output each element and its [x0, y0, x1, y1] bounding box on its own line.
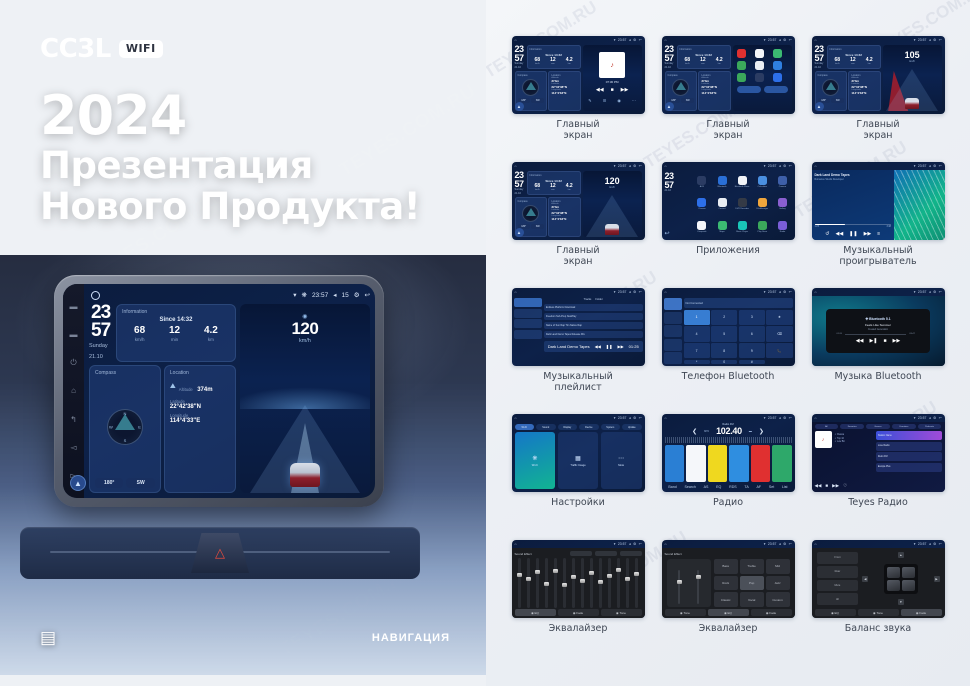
equalizer-footer-button[interactable]: ◉ Tone — [601, 609, 642, 616]
equalizer-footer[interactable]: ◉ Tone◉ EQ◉ Fade — [665, 609, 792, 616]
back-icon[interactable]: ↰ — [69, 415, 78, 424]
power-icon[interactable]: ⏻ — [69, 358, 78, 367]
progress-bar[interactable] — [845, 334, 906, 335]
equalizer-preset-button[interactable] — [595, 551, 617, 556]
settings-tab[interactable]: System — [601, 424, 621, 430]
back-icon[interactable]: ↩ — [639, 542, 642, 546]
dialer-sidebar-item[interactable] — [664, 352, 682, 364]
next-icon[interactable]: ▶▶ — [864, 231, 872, 237]
balance-arrow-up[interactable]: ▲ — [898, 552, 904, 558]
information-widget[interactable]: InformationSince 14:3268km/h12min4.2km — [527, 171, 581, 195]
clock-widget[interactable]: 2357Sunday21.10 — [815, 45, 824, 69]
balance-list-item[interactable]: Rear — [817, 566, 859, 578]
quick-action-icon[interactable]: ◉ — [617, 98, 621, 103]
location-widget[interactable]: LocationAltitude374mLatitude22°42'38"NLo… — [548, 197, 580, 237]
teyes-radio-tab[interactable]: Favorites — [840, 424, 864, 429]
back-icon[interactable]: ↩ — [639, 38, 642, 42]
progress-bar[interactable] — [815, 224, 891, 225]
prev-icon[interactable]: ◀◀ — [595, 344, 601, 349]
dialer-sidebar-item[interactable] — [664, 339, 682, 351]
back-icon[interactable]: ↩ — [639, 290, 642, 294]
app-icon[interactable] — [737, 73, 746, 82]
information-widget[interactable]: Information Since 14:32 68 km/h — [116, 304, 236, 362]
app-icon[interactable] — [755, 61, 764, 70]
app-icon[interactable] — [778, 198, 787, 207]
app-icon[interactable] — [755, 49, 764, 58]
gear-icon[interactable]: ⚙ — [783, 290, 786, 294]
station-list-item[interactable]: Station Name — [876, 431, 942, 440]
radio-toolbar-item[interactable]: Band — [668, 485, 676, 489]
prev-icon[interactable]: ◀◀ — [856, 338, 864, 344]
playback-controls[interactable]: ◀◀▶❚■▶▶ — [856, 338, 900, 344]
radio-preset[interactable] — [708, 445, 728, 482]
equalizer-preset[interactable]: Pop — [740, 576, 764, 591]
app-item[interactable]: DVR Recorder — [735, 198, 749, 210]
equalizer-bands[interactable] — [515, 558, 642, 608]
screenshot-thumbnail[interactable]: ⌂▾23:57◂⚙↩Sound Effect◉ EQ◉ Fade◉ Tone — [512, 540, 645, 618]
settings-tab[interactable]: Wi-Fi — [515, 424, 535, 430]
clock-widget[interactable]: 2357Sunday21.10 — [515, 45, 524, 69]
pause-icon[interactable]: ❚❚ — [606, 344, 613, 349]
equalizer-preset-button[interactable] — [570, 551, 592, 556]
equalizer-band[interactable] — [590, 558, 593, 608]
dial-key[interactable]: 2 — [711, 310, 737, 325]
app-icon[interactable] — [738, 198, 747, 207]
stop-icon[interactable]: ■ — [611, 87, 614, 93]
back-icon[interactable]: ↩ — [939, 416, 942, 420]
balance-arrow-lf[interactable]: ◀ — [862, 576, 868, 582]
gear-icon[interactable]: ⚙ — [354, 291, 360, 299]
app-icon[interactable] — [758, 198, 767, 207]
balance-list-item[interactable]: Mute — [817, 580, 859, 592]
assistant-button[interactable]: ▲ — [815, 102, 824, 111]
radio-preset[interactable] — [772, 445, 792, 482]
screenshot-thumbnail[interactable]: ⌂▾23:57◂⚙↩2357Sunday21.10InformationSinc… — [512, 36, 645, 114]
dial-pad[interactable]: 123★456⌫789📞*0# — [684, 310, 793, 365]
dial-key[interactable]: 9 — [739, 343, 765, 358]
dock-button[interactable] — [764, 86, 788, 93]
equalizer-knob[interactable] — [544, 582, 549, 586]
app-item[interactable]: Radio — [778, 221, 787, 233]
radio-toolbar-item[interactable]: TA — [744, 485, 748, 489]
settings-card[interactable]: ▦Traffic Usage — [558, 432, 599, 489]
assistant-button[interactable]: ▲ — [70, 475, 86, 491]
app-item[interactable]: Music Player — [736, 221, 748, 233]
equalizer-knob[interactable] — [598, 580, 603, 584]
settings-tabs[interactable]: Wi-FiSoundDisplayDeviceSystemUpdate — [515, 424, 642, 430]
radio-toolbar-item[interactable]: AS — [704, 485, 709, 489]
gear-icon[interactable]: ⚙ — [783, 38, 786, 42]
teyes-radio-tab[interactable]: Podcasts — [918, 424, 942, 429]
screenshot-thumbnail[interactable]: ⌂▾23:57◂⚙↩235721.10↩AUXBluetoothBluetoot… — [662, 162, 795, 240]
back-icon[interactable]: ↩ — [639, 164, 642, 168]
equalizer-knob[interactable] — [535, 570, 540, 574]
app-shortcuts-grid[interactable] — [733, 45, 792, 86]
radio-toolbar-item[interactable]: EQ — [716, 485, 721, 489]
equalizer-knob[interactable] — [526, 577, 531, 581]
equalizer-knob[interactable] — [562, 583, 567, 587]
dial-key[interactable]: 7 — [684, 343, 710, 358]
balance-footer-button[interactable]: ◉ Fade — [901, 609, 942, 616]
equalizer-band[interactable] — [626, 558, 629, 608]
back-icon[interactable]: ↩ — [939, 164, 942, 168]
home-icon[interactable]: ⌂ — [815, 416, 817, 420]
dialer-sidebar-item[interactable] — [664, 298, 682, 310]
media-controls[interactable]: ◀◀■▶▶ — [583, 87, 642, 93]
equalizer-footer-button[interactable]: ◉ Tone — [665, 609, 706, 616]
equalizer-presets[interactable]: BassTrebleMidRockPopJazzClassicVocalCust… — [714, 559, 790, 607]
gear-icon[interactable]: ⚙ — [633, 38, 636, 42]
equalizer-band[interactable] — [536, 558, 539, 608]
equalizer-preset[interactable]: Mid — [766, 559, 790, 574]
app-icon[interactable] — [718, 221, 727, 230]
screenshot-thumbnail[interactable]: ⌂▾23:57◂⚙↩TracksFolderEndless Platform D… — [512, 288, 645, 366]
app-icon[interactable] — [778, 176, 787, 185]
app-icon[interactable] — [738, 221, 747, 230]
equalizer-band[interactable] — [518, 558, 521, 608]
radio-preset[interactable] — [686, 445, 706, 482]
app-icon[interactable] — [697, 198, 706, 207]
screenshot-thumbnail[interactable]: ⌂▾23:57◂⚙↩2357Sunday21.10InformationSinc… — [662, 36, 795, 114]
screenshot-thumbnail[interactable]: ⌂▾23:57◂⚙↩Not Connected123★456⌫789📞*0# — [662, 288, 795, 366]
dial-key[interactable]: 0 — [711, 360, 737, 364]
settings-tab[interactable]: Sound — [536, 424, 556, 430]
playlist-row[interactable]: Dark Land Demo Tapes Release Mix — [544, 331, 643, 339]
head-unit-screen[interactable]: ▬ ▬ ⏻ ⌂ ↰ ◅ ▻ ▾ ❋ — [63, 284, 375, 498]
balance-pad[interactable]: ▲▼◀▶ — [862, 552, 939, 605]
back-icon[interactable]: ↩ — [789, 38, 792, 42]
app-icon[interactable] — [738, 176, 747, 185]
prev-icon[interactable]: ◀◀ — [815, 483, 822, 489]
teyes-radio-tab[interactable]: Countries — [892, 424, 916, 429]
screenshot-thumbnail[interactable]: ⌂▾23:57◂⚙↩Radio FM❮MHz102.40▬❯BandSearch… — [662, 414, 795, 492]
clock-widget[interactable]: 2357Sunday21.10 — [665, 45, 674, 69]
settings-card[interactable]: ⋯More — [601, 432, 642, 489]
teyes-radio-tabs[interactable]: AllFavoritesGenresCountriesPodcasts — [815, 424, 942, 429]
radio-toolbar-item[interactable]: List — [782, 485, 788, 489]
home-right-panel[interactable]: ♪07:30 PM◀◀■▶▶✎☰◉⋯ — [583, 45, 642, 111]
home-icon[interactable]: ⌂ — [665, 164, 667, 168]
back-icon[interactable]: ↩ — [365, 291, 370, 299]
station-list-item[interactable]: Retro FM — [876, 452, 942, 461]
back-icon[interactable]: ↩ — [939, 290, 942, 294]
compass-widget[interactable]: Compass N E S W — [89, 365, 161, 493]
dial-key[interactable]: ★ — [766, 310, 792, 325]
home-icon[interactable]: ⌂ — [515, 416, 517, 420]
app-icon[interactable] — [773, 61, 782, 70]
playlist-tab[interactable]: Tracks — [584, 298, 592, 301]
information-widget[interactable]: InformationSince 14:3268km/h12min4.2km — [527, 45, 581, 69]
home-icon[interactable]: ⌂ — [815, 38, 817, 42]
next-icon[interactable]: ▶▶ — [621, 87, 629, 93]
volume-icon[interactable]: ▬ — [69, 302, 78, 311]
information-widget[interactable]: InformationSince 14:3268km/h12min4.2km — [677, 45, 731, 69]
app-item[interactable]: AUX — [697, 176, 706, 188]
equalizer-preset[interactable]: Custom — [766, 592, 790, 607]
quick-actions[interactable]: ✎☰◉⋯ — [583, 98, 642, 103]
app-item[interactable]: Chrome — [697, 198, 706, 210]
equalizer-band[interactable] — [545, 558, 548, 608]
equalizer-preset[interactable]: Jazz — [766, 576, 790, 591]
gear-icon[interactable]: ⚙ — [933, 290, 936, 294]
next-icon[interactable]: ▶▶ — [618, 344, 624, 349]
clock-widget[interactable]: 2357Sunday21.10 — [515, 171, 524, 195]
app-item[interactable]: Camera — [778, 176, 787, 188]
app-icon[interactable] — [758, 221, 767, 230]
balance-list[interactable]: FrontRearMuteAll — [817, 552, 859, 605]
app-item[interactable]: Maps — [718, 221, 727, 233]
back-icon[interactable]: ↩ — [939, 38, 942, 42]
dial-key[interactable]: # — [739, 360, 765, 364]
screenshot-thumbnail[interactable]: ⌂▾23:57◂⚙↩2357Sunday21.10InformationSinc… — [812, 36, 945, 114]
clock-widget[interactable]: 23 57 Sunday 21.10 — [89, 304, 110, 362]
app-icon[interactable] — [718, 176, 727, 185]
app-icon[interactable] — [737, 49, 746, 58]
home-right-panel[interactable] — [733, 45, 792, 111]
balance-arrow-rt[interactable]: ▶ — [934, 576, 940, 582]
equalizer-footer[interactable]: ◉ EQ◉ Fade◉ Tone — [515, 609, 642, 616]
equalizer-knob[interactable] — [696, 575, 701, 579]
radio-toolbar-item[interactable]: RDS — [729, 485, 737, 489]
playlist-tabs[interactable]: TracksFolder — [544, 298, 643, 301]
playback-controls[interactable]: ◀◀■▶▶♡ — [815, 483, 873, 489]
dial-key[interactable]: 8 — [711, 343, 737, 358]
app-icon[interactable] — [737, 61, 746, 70]
home-icon[interactable] — [91, 291, 100, 300]
equalizer-knob[interactable] — [589, 571, 594, 575]
pause-icon[interactable]: ❚❚ — [849, 231, 857, 237]
settings-tab[interactable]: Display — [558, 424, 578, 430]
settings-tab[interactable]: Update — [622, 424, 642, 430]
gear-icon[interactable]: ⚙ — [933, 416, 936, 420]
gear-icon[interactable]: ⚙ — [783, 542, 786, 546]
balance-arrow-dn[interactable]: ▼ — [898, 599, 904, 605]
app-item[interactable]: Play Store — [758, 221, 768, 233]
equalizer-band[interactable] — [608, 558, 611, 608]
back-icon[interactable]: ↩ — [789, 290, 792, 294]
playback-controls[interactable]: ↺◀◀❚❚▶▶≡ — [815, 231, 891, 237]
driving-view-widget[interactable]: ◉ 120 km/h — [240, 304, 370, 493]
equalizer-footer-button[interactable]: ◉ Fade — [751, 609, 792, 616]
list-icon[interactable]: ≡ — [877, 231, 880, 237]
menu-icon[interactable]: ▬ — [69, 330, 78, 339]
equalizer-knob[interactable] — [571, 575, 576, 579]
gear-icon[interactable]: ⚙ — [633, 164, 636, 168]
playlist-sidebar[interactable] — [514, 298, 542, 364]
location-widget[interactable]: LocationAltitude374mLatitude22°42'38"NLo… — [848, 71, 880, 111]
playlist-sidebar-item[interactable] — [514, 319, 542, 328]
gear-icon[interactable]: ⚙ — [633, 290, 636, 294]
home-icon[interactable]: ⌂ — [515, 164, 517, 168]
balance-list-item[interactable]: All — [817, 593, 859, 605]
home-right-panel[interactable]: 120km/h — [583, 171, 642, 237]
back-icon[interactable]: ↩ — [789, 164, 792, 168]
app-icon[interactable] — [697, 221, 706, 230]
equalizer-slider[interactable] — [697, 570, 699, 604]
equalizer-band[interactable] — [527, 558, 530, 608]
screenshot-thumbnail[interactable]: ⌂▾23:57◂⚙↩✚ Bluetooth 5.1Feels Like Summ… — [812, 288, 945, 366]
back-icon[interactable]: ↩ — [789, 416, 792, 420]
teyes-radio-tab[interactable]: Genres — [866, 424, 890, 429]
screenshot-thumbnail[interactable]: ⌂▾23:57◂⚙↩Sound EffectBassTrebleMidRockP… — [662, 540, 795, 618]
repeat-icon[interactable]: ↺ — [825, 231, 829, 237]
app-icon[interactable] — [755, 73, 764, 82]
gear-icon[interactable]: ⚙ — [633, 542, 636, 546]
equalizer-preset[interactable]: Classic — [714, 592, 738, 607]
equalizer-preset[interactable]: Rock — [714, 576, 738, 591]
radio-tuning-scale[interactable] — [665, 437, 792, 443]
screenshot-thumbnail[interactable]: ⌂▾23:57◂⚙↩Dark Land Demo TapesRomance St… — [812, 162, 945, 240]
app-item[interactable]: Gallery — [778, 198, 787, 210]
assistant-button[interactable]: ▲ — [515, 228, 524, 237]
playlist-row[interactable]: Endless Platform Download — [544, 304, 643, 312]
quick-action-icon[interactable]: ✎ — [588, 98, 591, 103]
station-list-item[interactable]: Love Radio — [876, 442, 942, 451]
balance-list-item[interactable]: Front — [817, 552, 859, 564]
prev-icon[interactable]: ◀◀ — [835, 231, 843, 237]
app-item[interactable]: Bluetooth — [718, 176, 727, 188]
app-item[interactable]: Calculator — [758, 176, 767, 188]
equalizer-knob[interactable] — [580, 579, 585, 583]
playlist-sidebar-item[interactable] — [514, 309, 542, 318]
gear-icon[interactable]: ⚙ — [933, 542, 936, 546]
next-station-button[interactable]: ❯ — [759, 428, 764, 435]
equalizer-preset[interactable]: Vocal — [740, 592, 764, 607]
dial-key[interactable]: 3 — [739, 310, 765, 325]
back-icon[interactable]: ↩ — [665, 230, 690, 237]
equalizer-knob[interactable] — [677, 580, 682, 584]
balance-footer-button[interactable]: ◉ Tone — [858, 609, 899, 616]
app-item[interactable]: Contact — [718, 198, 727, 210]
now-playing-bar[interactable]: Dark Land Demo Tapes◀◀❚❚▶▶01:25 — [544, 341, 643, 352]
gear-icon[interactable]: ⚙ — [783, 416, 786, 420]
equalizer-knob[interactable] — [634, 572, 639, 576]
stop-icon[interactable]: ■ — [825, 483, 828, 489]
equalizer-preset[interactable]: Treble — [740, 559, 764, 574]
app-item[interactable]: Bluetooth Music — [735, 176, 750, 188]
equalizer-preset-button[interactable] — [620, 551, 642, 556]
radio-toolbar-item[interactable]: Search — [685, 485, 696, 489]
playlist-tab[interactable]: Folder — [595, 298, 602, 301]
settings-tab[interactable]: Device — [579, 424, 599, 430]
home-icon[interactable]: ⌂ — [665, 38, 667, 42]
information-widget[interactable]: InformationSince 14:3268km/h12min4.2km — [827, 45, 881, 69]
equalizer-band[interactable] — [617, 558, 620, 608]
gear-icon[interactable]: ⚙ — [783, 164, 786, 168]
radio-presets[interactable] — [665, 445, 792, 482]
station-list[interactable]: Station NameLove RadioRetro FMEuropa Plu… — [876, 431, 942, 489]
equalizer-knob[interactable] — [553, 569, 558, 573]
radio-toolbar-item[interactable]: AF — [756, 485, 761, 489]
equalizer-footer-button[interactable]: ◉ Fade — [558, 609, 599, 616]
home-icon[interactable]: ⌂ — [815, 290, 817, 294]
dial-key[interactable]: 4 — [684, 326, 710, 341]
screenshot-thumbnail[interactable]: ⌂▾23:57◂⚙↩AllFavoritesGenresCountriesPod… — [812, 414, 945, 492]
app-icon[interactable] — [697, 176, 706, 185]
balance-footer-button[interactable]: ◉ EQ — [815, 609, 856, 616]
dialer-sidebar[interactable] — [664, 298, 682, 364]
equalizer-knob[interactable] — [607, 574, 612, 578]
dial-key[interactable]: * — [684, 360, 710, 364]
equalizer-knob[interactable] — [625, 577, 630, 581]
back-icon[interactable]: ↩ — [939, 542, 942, 546]
dock-bar[interactable] — [733, 86, 792, 96]
app-icon[interactable] — [773, 49, 782, 58]
equalizer-band[interactable] — [572, 558, 575, 608]
volume-down-icon[interactable]: ◅ — [69, 443, 78, 452]
radio-preset[interactable] — [751, 445, 771, 482]
screenshot-thumbnail[interactable]: ⌂▾23:57◂⚙↩FrontRearMuteAll▲▼◀▶◉ EQ◉ Tone… — [812, 540, 945, 618]
quick-action-icon[interactable]: ⋯ — [632, 98, 636, 103]
equalizer-knob[interactable] — [517, 573, 522, 577]
hazard-button[interactable]: △ — [191, 533, 249, 573]
radio-preset[interactable] — [665, 445, 685, 482]
quick-action-icon[interactable]: ☰ — [603, 98, 607, 103]
home-icon[interactable]: ⌂ — [515, 542, 517, 546]
equalizer-slider[interactable] — [678, 570, 680, 604]
screenshot-thumbnail[interactable]: ⌂▾23:57◂⚙↩Wi-FiSoundDisplayDeviceSystemU… — [512, 414, 645, 492]
gear-icon[interactable]: ⚙ — [933, 38, 936, 42]
assistant-button[interactable]: ▲ — [515, 102, 524, 111]
equalizer-preset[interactable]: Bass — [714, 559, 738, 574]
gear-icon[interactable]: ⚙ — [633, 416, 636, 420]
dial-key[interactable]: 1 — [684, 310, 710, 325]
home-icon[interactable]: ⌂ — [815, 164, 817, 168]
dock-button[interactable] — [737, 86, 761, 93]
play-pause-icon[interactable]: ▶❚ — [869, 338, 877, 344]
app-icon[interactable] — [773, 73, 782, 82]
next-icon[interactable]: ▶▶ — [893, 338, 901, 344]
location-widget[interactable]: LocationAltitude374mLatitude22°42'38"NLo… — [698, 71, 730, 111]
station-list-item[interactable]: Europa Plus — [876, 463, 942, 472]
home-icon[interactable]: ⌂ — [665, 542, 667, 546]
settings-card[interactable]: ❋Wi-Fi — [515, 432, 556, 489]
prev-station-button[interactable]: ❮ — [692, 428, 697, 435]
app-item[interactable]: Kinopoisk — [697, 221, 706, 233]
app-item[interactable]: FileManager — [757, 198, 769, 210]
back-icon[interactable]: ↩ — [639, 416, 642, 420]
next-icon[interactable]: ▶▶ — [832, 483, 839, 489]
location-widget[interactable]: LocationAltitude374mLatitude22°42'38"NLo… — [548, 71, 580, 111]
app-icon[interactable] — [718, 198, 727, 207]
back-icon[interactable]: ↩ — [789, 542, 792, 546]
playlist-sidebar-item[interactable] — [514, 330, 542, 339]
app-icon[interactable] — [758, 176, 767, 185]
radio-preset[interactable] — [729, 445, 749, 482]
favorite-icon[interactable]: ♡ — [843, 483, 847, 489]
assistant-button[interactable]: ▲ — [665, 102, 674, 111]
equalizer-band[interactable] — [635, 558, 638, 608]
dialer-sidebar-item[interactable] — [664, 312, 682, 324]
equalizer-band[interactable] — [563, 558, 566, 608]
home-icon[interactable]: ⌂ — [665, 416, 667, 420]
playlist-row[interactable]: Freedom Sub-Prep NewPlay — [544, 313, 643, 321]
dial-key[interactable]: 5 — [711, 326, 737, 341]
stop-icon[interactable]: ■ — [884, 338, 887, 344]
radio-toolbar[interactable]: BandSearchASEQRDSTAAFSetList — [665, 483, 792, 490]
app-icon[interactable] — [778, 221, 787, 230]
equalizer-sliders[interactable] — [667, 559, 711, 607]
dial-key[interactable]: 6 — [739, 326, 765, 341]
dial-key[interactable]: 📞 — [766, 343, 792, 358]
home-icon[interactable]: ⌂ — [665, 290, 667, 294]
equalizer-footer-button[interactable]: ◉ EQ — [515, 609, 556, 616]
home-icon[interactable]: ⌂ — [815, 542, 817, 546]
home-icon[interactable]: ⌂ — [69, 386, 78, 395]
dial-key[interactable]: ⌫ — [766, 326, 792, 341]
prev-icon[interactable]: ◀◀ — [596, 87, 604, 93]
equalizer-band[interactable] — [599, 558, 602, 608]
